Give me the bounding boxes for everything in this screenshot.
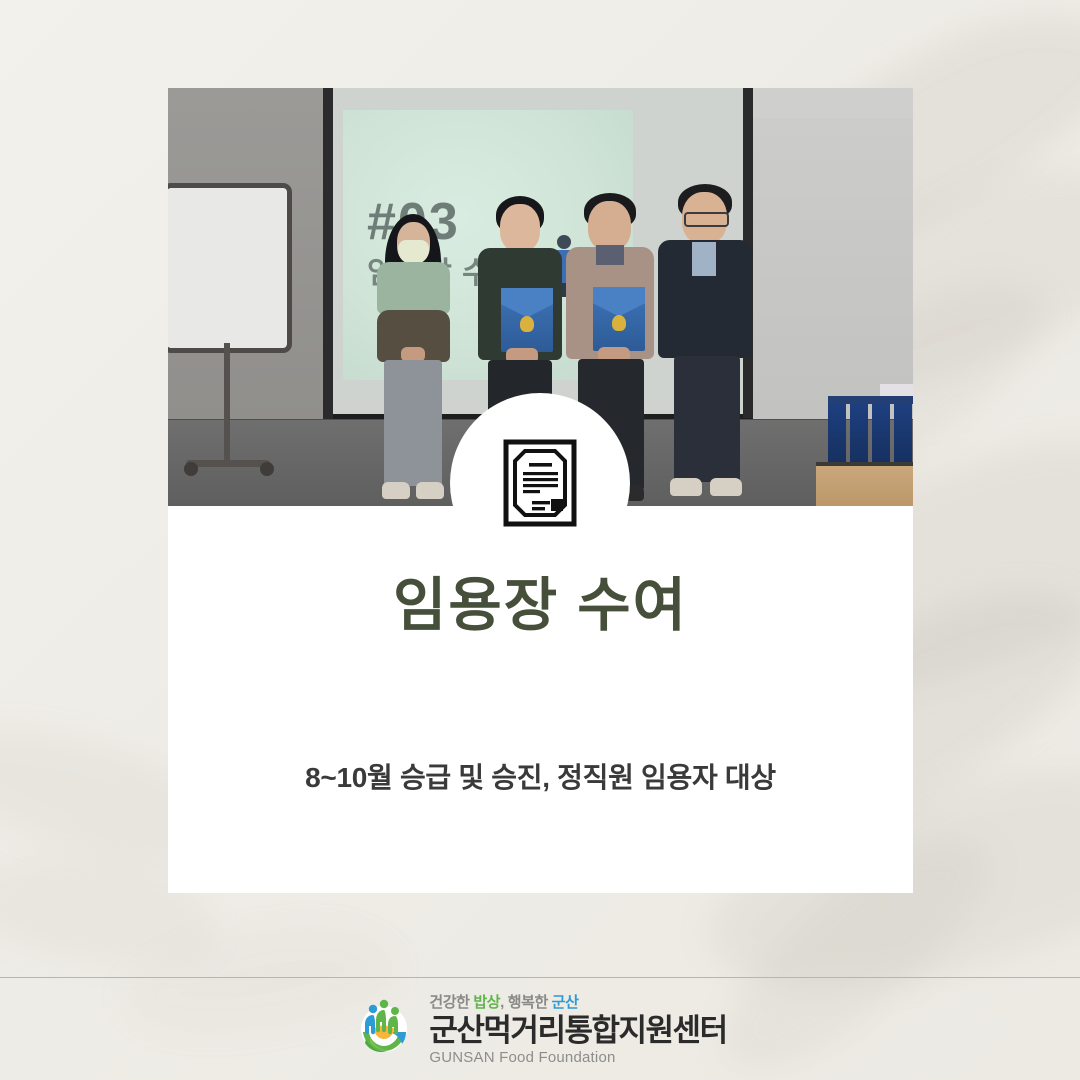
whiteboard-stand (224, 343, 230, 463)
wooden-table (816, 466, 913, 506)
page-subtitle: 8~10월 승급 및 승진, 정직원 임용자 대상 (168, 756, 913, 796)
gunsan-food-foundation-logo (353, 999, 415, 1061)
footer-logo-text: 건강한 밥상, 행복한 군산 군산먹거리통합지원센터 GUNSAN Food F… (429, 995, 726, 1065)
footer-tagline: 건강한 밥상, 행복한 군산 (429, 995, 726, 1010)
photo-person-1 (371, 214, 456, 504)
whiteboard-wheel (184, 462, 198, 476)
footer: 건강한 밥상, 행복한 군산 군산먹거리통합지원센터 GUNSAN Food F… (0, 985, 1080, 1075)
content-card: #03 임용장 수여 (168, 88, 913, 893)
photo-person-4 (658, 184, 754, 504)
footer-organization-en: GUNSAN Food Foundation (429, 1050, 726, 1065)
whiteboard (168, 183, 292, 353)
photo-ceiling (753, 88, 913, 118)
poster-page: #03 임용장 수여 (0, 0, 1080, 1080)
blue-gift-bags (828, 403, 913, 465)
footer-divider (0, 977, 1080, 978)
footer-organization-ko: 군산먹거리통합지원센터 (429, 1015, 726, 1046)
certificate-document-icon (503, 439, 577, 527)
certificate-folder (593, 287, 645, 351)
badge-circle (450, 393, 630, 573)
whiteboard-wheel (260, 462, 274, 476)
certificate-folder (501, 288, 553, 352)
page-title: 임용장 수여 (168, 558, 913, 642)
whiteboard-base (186, 460, 270, 467)
